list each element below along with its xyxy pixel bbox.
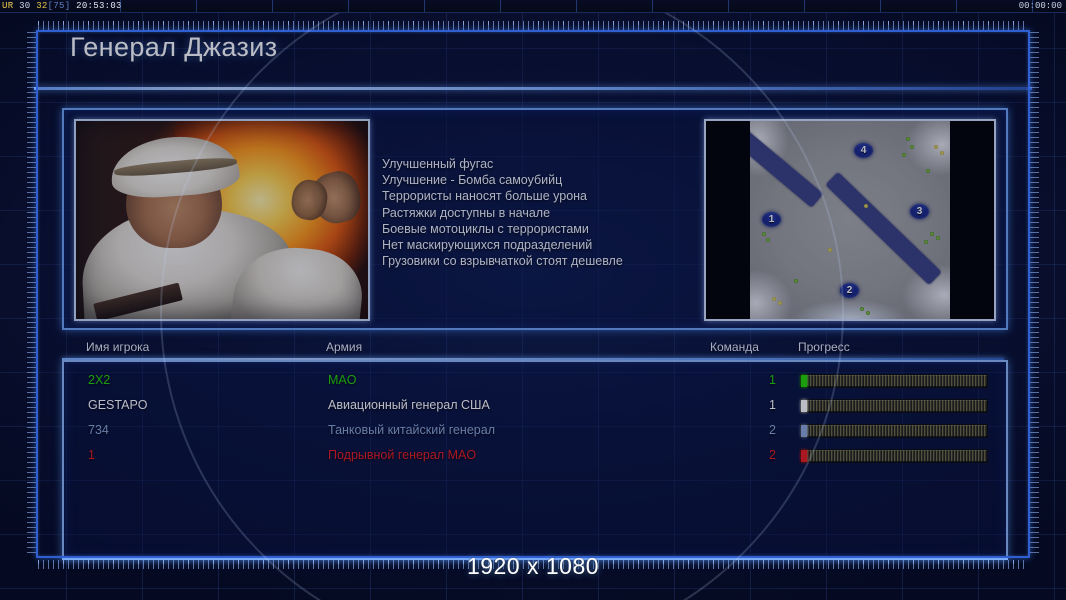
topbar-tick — [880, 0, 881, 12]
topbar-tick — [424, 0, 425, 12]
topbar-tick — [576, 0, 577, 12]
main-window — [24, 18, 1042, 570]
topbar-tick — [196, 0, 197, 12]
status-clock: 20:53:03 — [76, 1, 122, 11]
top-status-bar: UR 30 32[75] 20:53:03 00:00:00 — [0, 0, 1066, 13]
topbar-tick — [348, 0, 349, 12]
topbar-tick — [804, 0, 805, 12]
topbar-tick — [652, 0, 653, 12]
topbar-tick — [728, 0, 729, 12]
fps-status-text: UR 30 32[75] 20:53:03 — [2, 0, 122, 12]
window-frame — [36, 30, 1030, 558]
status-value-3: [75] — [48, 1, 71, 11]
topbar-tick — [1032, 0, 1033, 12]
topbar-tick — [500, 0, 501, 12]
ruler-right — [1030, 32, 1039, 556]
status-value-2: 32 — [36, 1, 47, 11]
elapsed-timer: 00:00:00 — [1019, 0, 1062, 12]
topbar-tick — [120, 0, 121, 12]
ruler-left — [27, 32, 36, 556]
loading-screen: UR 30 32[75] 20:53:03 00:00:00 Генерал Д… — [0, 0, 1066, 600]
topbar-tick — [956, 0, 957, 12]
status-value-1: 30 — [19, 1, 30, 11]
ruler-top — [38, 21, 1028, 30]
resolution-label: 1920 x 1080 — [0, 553, 1066, 580]
topbar-tick — [272, 0, 273, 12]
status-label: UR — [2, 1, 13, 11]
